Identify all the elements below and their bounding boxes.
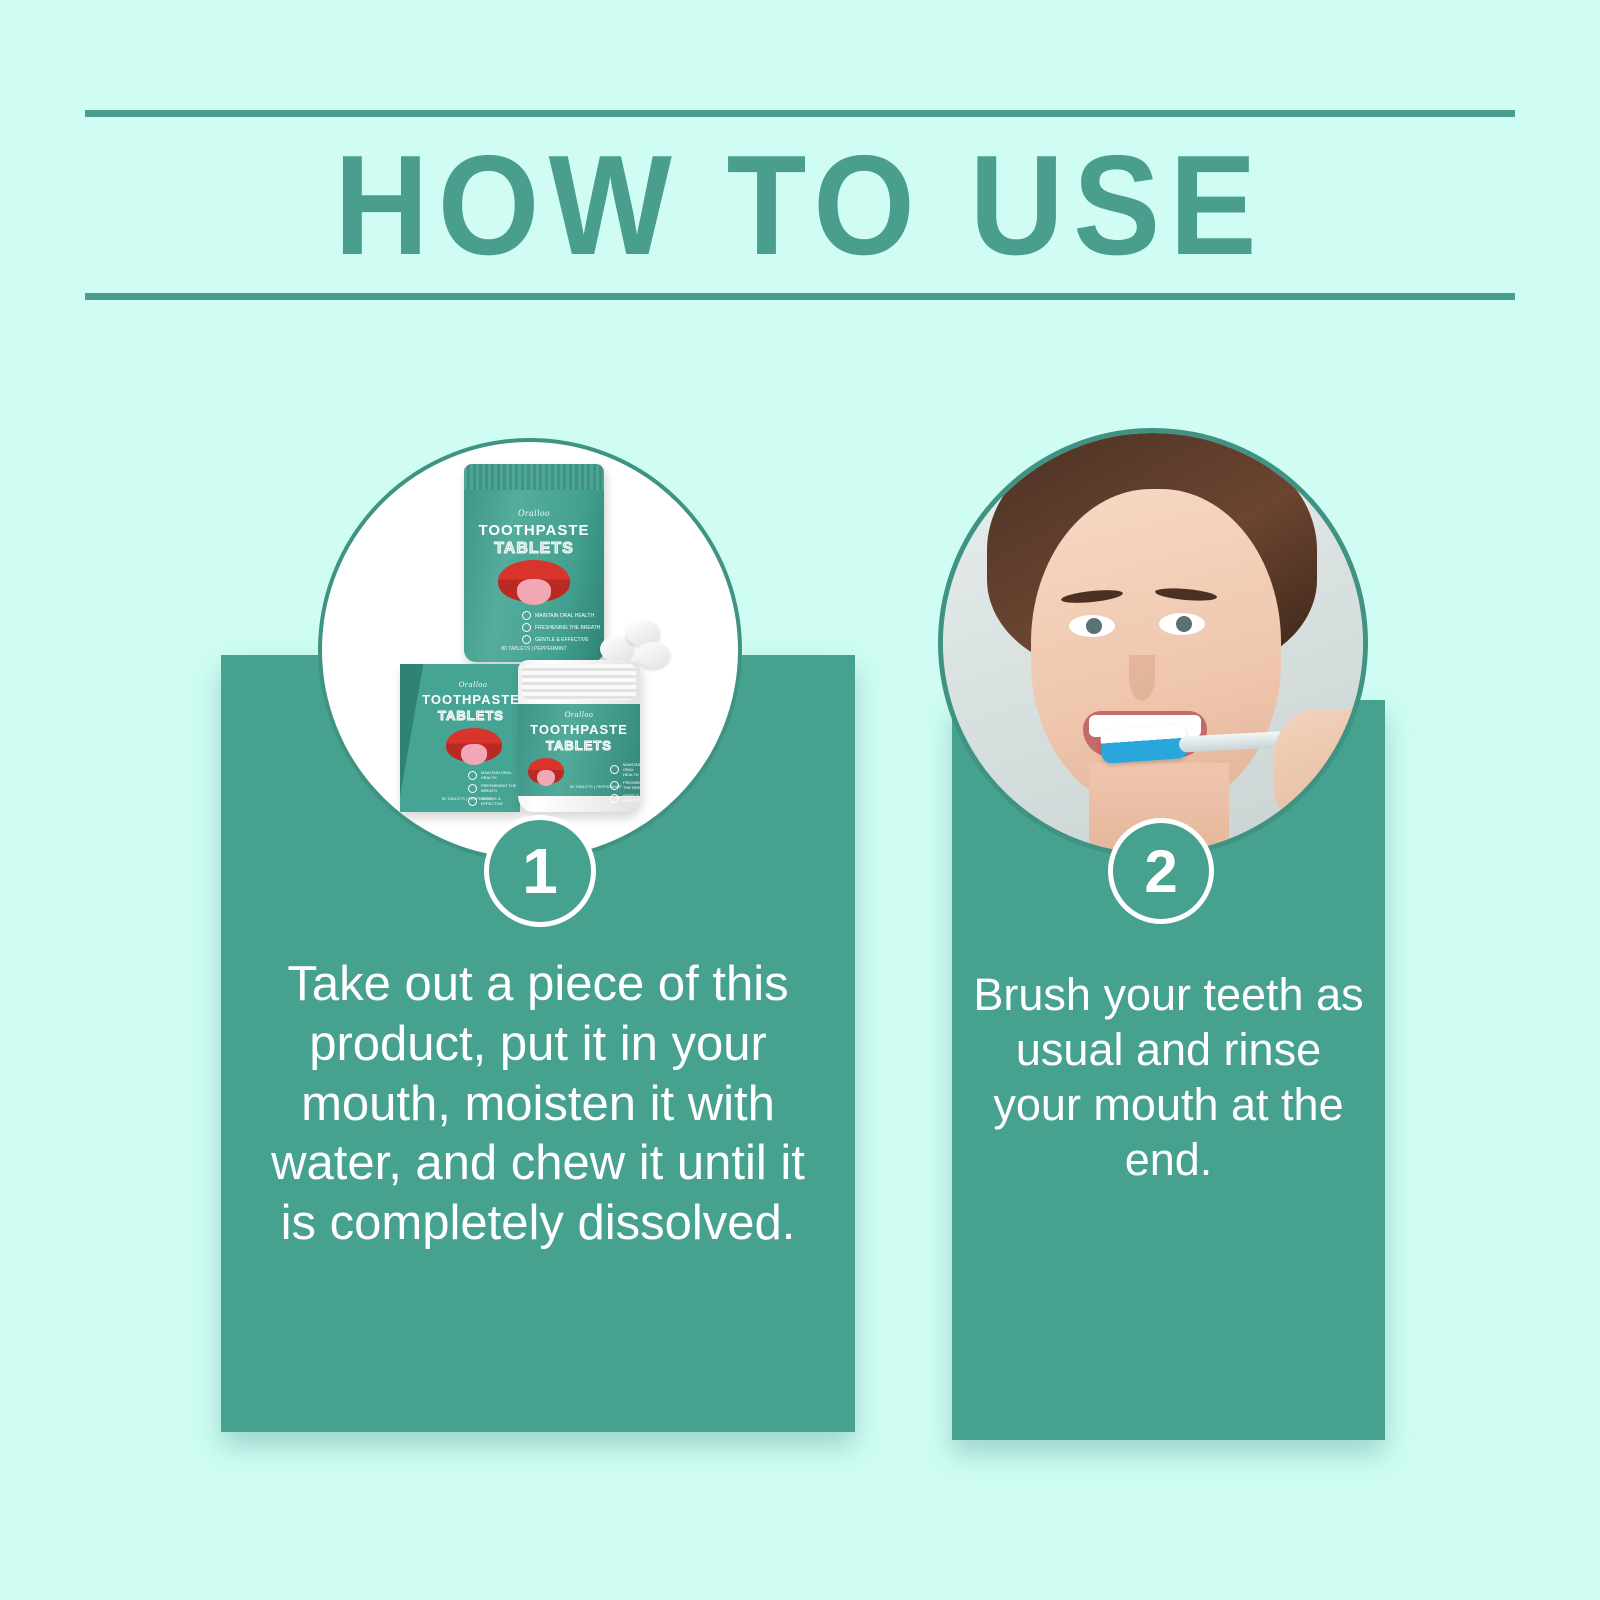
benefit-label: GENTLE & EFFECTIVE — [535, 637, 589, 643]
jar-label: Oralloo TOOTHPASTE TABLETS MAINTAIN ORAL… — [518, 704, 640, 796]
tablet-icon — [636, 642, 670, 668]
pouch-brand: Oralloo — [464, 508, 604, 518]
step-2-number-badge: 2 — [1108, 818, 1214, 924]
eye-left — [1069, 615, 1115, 637]
page-title: HOW TO USE — [142, 131, 1458, 281]
check-dot-icon — [610, 794, 619, 803]
product-pouch: Oralloo TOOTHPASTE TABLETS MAINTAIN ORAL… — [464, 464, 604, 662]
jar-lid — [522, 664, 636, 700]
benefit-label: FRESHENING THE BREATH — [481, 783, 520, 793]
check-dot-icon — [610, 765, 619, 774]
box-title-line-2: TABLETS — [422, 708, 520, 723]
pouch-zip-seal — [464, 464, 604, 490]
step-1-product-image: Oralloo TOOTHPASTE TABLETS MAINTAIN ORAL… — [318, 438, 742, 862]
header-rule-bottom — [85, 293, 1515, 300]
infographic-canvas: HOW TO USE Take out a piece of this prod… — [0, 0, 1600, 1600]
page-header: HOW TO USE — [85, 110, 1515, 300]
list-item: MAINTAIN ORAL HEALTH — [610, 762, 640, 777]
pouch-benefit-list: MAINTAIN ORAL HEALTH FRESHENING THE BREA… — [482, 611, 604, 647]
jar-brand: Oralloo — [518, 710, 640, 719]
lips-icon — [498, 560, 570, 602]
box-title-line-1: TOOTHPASTE — [422, 692, 520, 707]
benefit-label: GENTLE & EFFECTIVE — [623, 793, 640, 803]
jar-title-line-1: TOOTHPASTE — [518, 722, 640, 737]
check-dot-icon — [522, 611, 531, 620]
box-footnote: 80 TABLETS | PEPPERMINT — [416, 796, 520, 801]
list-item: FRESHENING THE BREATH — [522, 623, 604, 632]
box-benefit-list: MAINTAIN ORAL HEALTH FRESHENING THE BREA… — [428, 770, 520, 809]
woman-brushing-teeth-illustration — [943, 433, 1363, 853]
jar-footnote: 80 TABLETS | PEPPERMINT — [552, 784, 640, 789]
step-2-description: Brush your teeth as usual and rinse your… — [952, 968, 1385, 1188]
check-dot-icon — [468, 771, 477, 780]
jar-title-line-2: TABLETS — [518, 738, 640, 753]
face — [1031, 489, 1281, 809]
box-brand: Oralloo — [426, 680, 520, 689]
list-item: GENTLE & EFFECTIVE — [522, 635, 604, 644]
pouch-title-line-1: TOOTHPASTE — [464, 522, 604, 539]
pouch-title-line-2: TABLETS — [464, 540, 604, 558]
benefit-label: MAINTAIN ORAL HEALTH — [623, 762, 640, 777]
benefit-label: MAINTAIN ORAL HEALTH — [535, 613, 594, 619]
hand — [1273, 709, 1368, 839]
lips-icon — [446, 728, 502, 762]
pouch-footnote: 80 TABLETS | PEPPERMINT — [464, 646, 604, 652]
check-dot-icon — [522, 635, 531, 644]
product-box: Oralloo TOOTHPASTE TABLETS MAINTAIN ORAL… — [400, 664, 520, 812]
step-1-description: Take out a piece of this product, put it… — [221, 955, 855, 1254]
check-dot-icon — [522, 623, 531, 632]
step-1-number-badge: 1 — [484, 815, 596, 927]
eye-right — [1159, 613, 1205, 635]
benefit-label: MAINTAIN ORAL HEALTH — [481, 770, 520, 780]
lips-icon — [528, 758, 564, 784]
toothbrush-head-icon — [1100, 724, 1188, 764]
product-packshot: Oralloo TOOTHPASTE TABLETS MAINTAIN ORAL… — [322, 442, 738, 858]
header-rule-top — [85, 110, 1515, 117]
list-item: MAINTAIN ORAL HEALTH — [522, 611, 604, 620]
check-dot-icon — [468, 784, 477, 793]
product-jar: Oralloo TOOTHPASTE TABLETS MAINTAIN ORAL… — [518, 660, 640, 812]
benefit-label: FRESHENING THE BREATH — [535, 625, 600, 631]
nose — [1129, 655, 1155, 701]
list-item: FRESHENING THE BREATH — [468, 783, 520, 793]
step-2-brushing-image — [938, 428, 1368, 858]
list-item: MAINTAIN ORAL HEALTH — [468, 770, 520, 780]
list-item: GENTLE & EFFECTIVE — [610, 793, 640, 803]
